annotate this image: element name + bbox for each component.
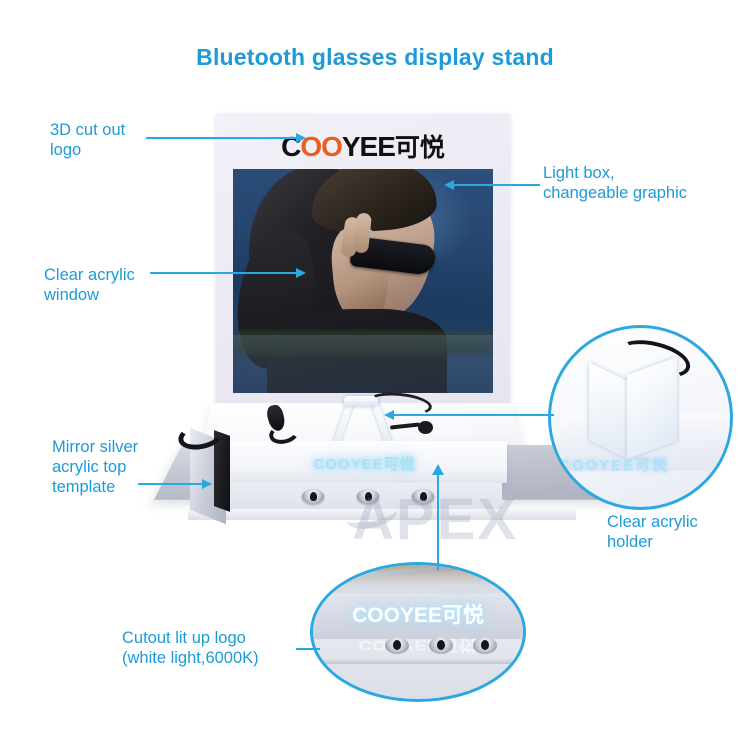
callout-clear-acrylic-holder: Clear acrylic holder xyxy=(607,512,698,552)
changeable-graphic xyxy=(233,169,493,393)
chrome-fixture xyxy=(429,637,453,654)
callout-light-box: Light box, changeable graphic xyxy=(543,163,687,203)
leader-line-cutout-logo xyxy=(437,472,439,570)
leader-arrow-3d-logo xyxy=(296,133,306,143)
callout-clear-acrylic-window: Clear acrylic window xyxy=(44,265,135,305)
leader-line-holder xyxy=(392,414,554,416)
leader-arrow-light-box xyxy=(444,180,454,190)
logo-letters-yee: YEE xyxy=(342,131,395,162)
poster-canvas: Bluetooth glasses display stand COOYEE可悦 xyxy=(0,0,750,750)
leader-line-mirror xyxy=(138,483,204,485)
callout-3d-cut-out-logo: 3D cut out logo xyxy=(50,120,125,160)
inset-lit-logo: COOYEE可悦 xyxy=(559,454,733,475)
acrylic-reflection xyxy=(233,335,493,393)
inset-base-strip xyxy=(313,657,523,664)
brand-logo: COOYEE可悦 xyxy=(216,128,510,164)
lit-logo: COOYEE可悦 xyxy=(222,453,507,474)
chrome-fixture xyxy=(473,637,497,654)
callout-mirror-silver-top: Mirror silver acrylic top template xyxy=(52,437,138,497)
leader-arrow-cutout-logo xyxy=(432,464,444,475)
chrome-fixture xyxy=(302,489,324,504)
light-box-panel: COOYEE可悦 xyxy=(216,114,510,409)
glasses-arm-right xyxy=(418,421,433,434)
callout-cutout-lit-logo: Cutout lit up logo (white light,6000K) xyxy=(122,628,259,668)
base-front-panel: COOYEE可悦 COOYEE可悦 xyxy=(222,441,507,483)
logo-letters-oo: OO xyxy=(300,131,342,162)
chrome-fixture xyxy=(385,637,409,654)
page-title: Bluetooth glasses display stand xyxy=(0,44,750,71)
leader-line-light-box xyxy=(452,184,540,186)
leader-arrow-window xyxy=(296,268,306,278)
leader-arrow-holder xyxy=(384,410,394,420)
leader-line-window xyxy=(150,272,298,274)
leader-arrow-mirror xyxy=(202,479,212,489)
inset-clear-acrylic-holder: COOYEE可悦 xyxy=(548,325,733,510)
inset-cutout-lit-logo: COOYEE可悦 COOYEE可悦 xyxy=(310,562,526,702)
leader-line-3d-logo xyxy=(146,137,298,139)
logo-chinese: 可悦 xyxy=(395,134,445,162)
holder-pane xyxy=(589,362,629,460)
leader-line-cutout-label xyxy=(296,648,320,650)
inset-holder-shape xyxy=(589,366,677,450)
inset-lit-logo-text: COOYEE可悦 xyxy=(313,599,523,629)
